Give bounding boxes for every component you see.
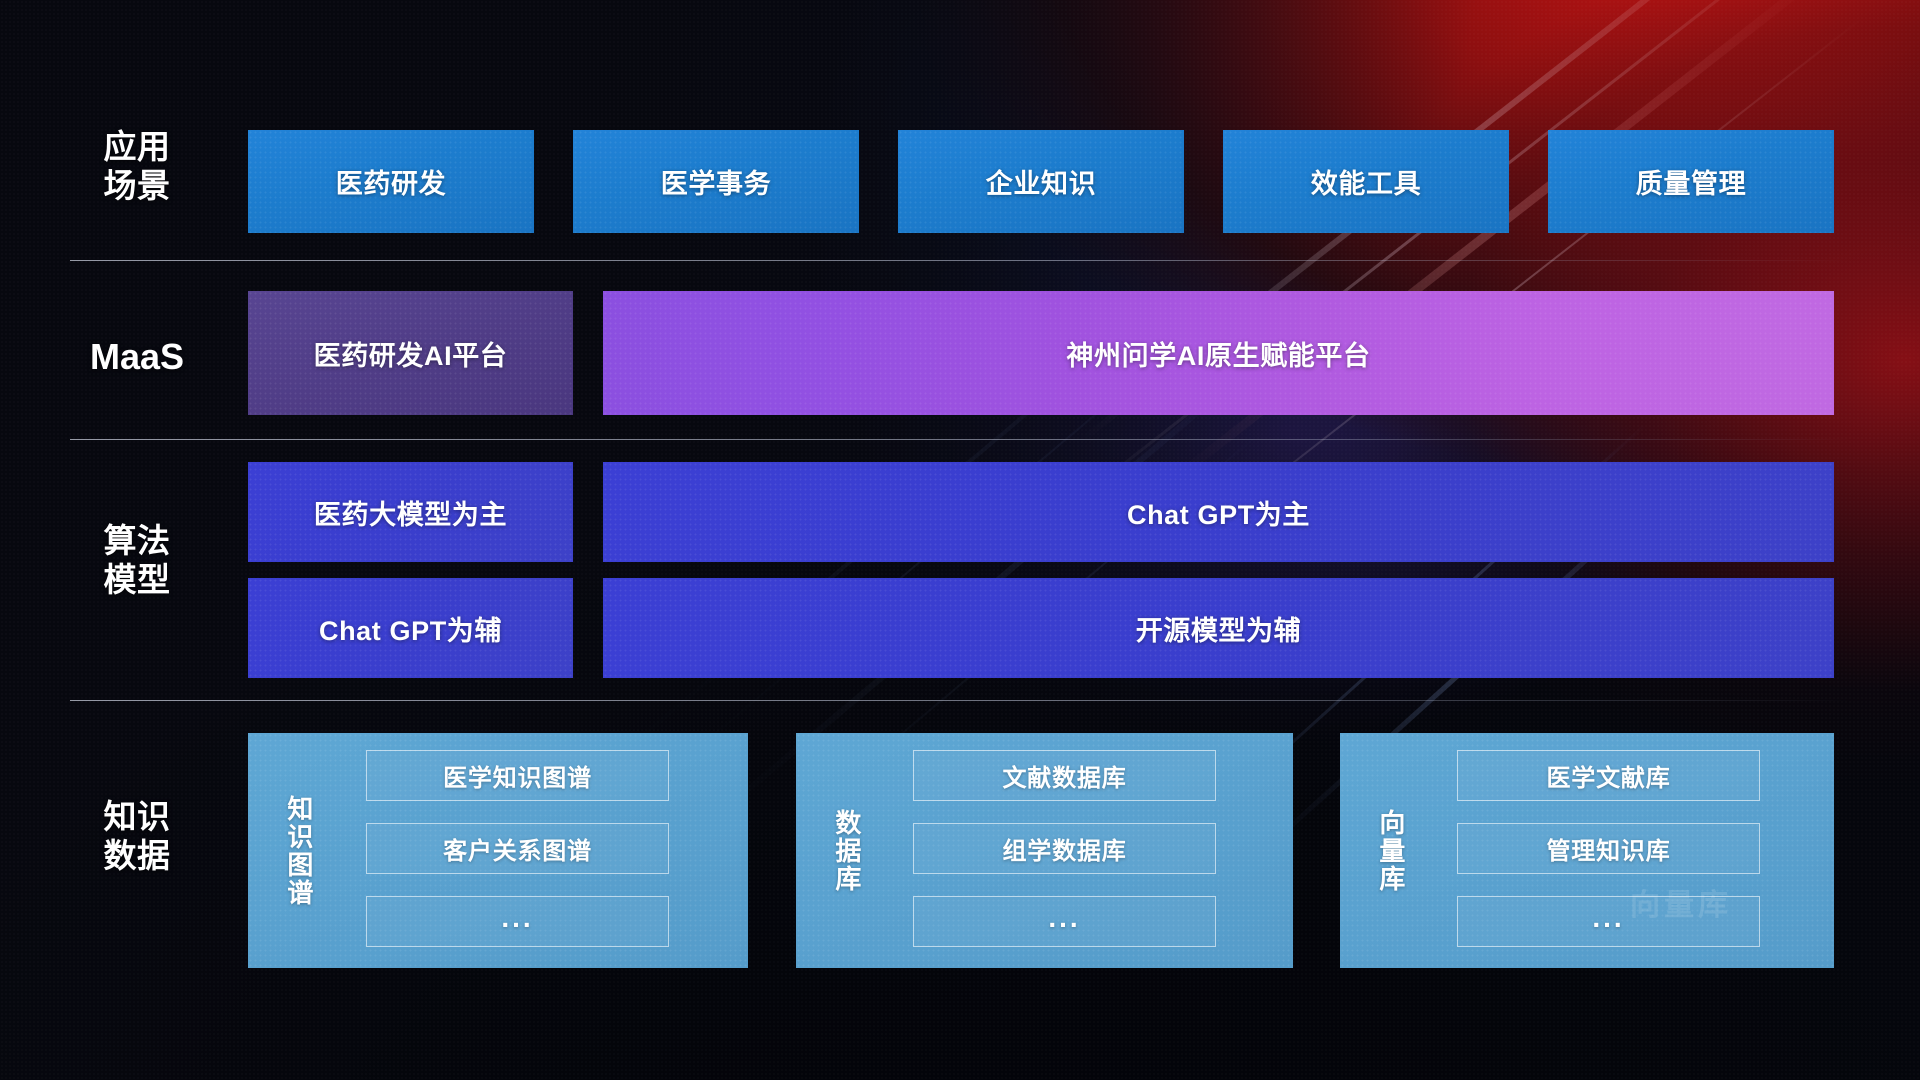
app-box-2[interactable]: 医学事务 [573, 130, 859, 233]
row-label-maas: MaaS [72, 336, 202, 378]
knowledge-group-3-item-2-label: 管理知识库 [1547, 831, 1671, 866]
row-label-application: 应用 场景 [72, 128, 202, 206]
algo-right-box-2-label: 开源模型为辅 [1136, 609, 1302, 648]
knowledge-group-1-item-1[interactable]: 医学知识图谱 [366, 750, 669, 801]
algo-right-box-2[interactable]: 开源模型为辅 [603, 578, 1834, 678]
algo-left-box-2[interactable]: Chat GPT为辅 [248, 578, 573, 678]
knowledge-group-2-item-3-label: ... [1048, 902, 1080, 934]
app-box-3-label: 企业知识 [986, 162, 1096, 201]
row-separator-1 [70, 260, 1850, 261]
row-label-knowledge: 知识 数据 [72, 798, 202, 876]
knowledge-group-1-item-2[interactable]: 客户关系图谱 [366, 823, 669, 874]
maas-main-platform-label: 神州问学AI原生赋能平台 [1066, 334, 1370, 373]
knowledge-group-2-item-2[interactable]: 组学数据库 [913, 823, 1216, 874]
app-box-1[interactable]: 医药研发 [248, 130, 534, 233]
knowledge-group-2-item-1[interactable]: 文献数据库 [913, 750, 1216, 801]
knowledge-group-3-vertical-label: 向量库 [1364, 753, 1416, 948]
knowledge-group-2-item-3[interactable]: ... [913, 896, 1216, 947]
knowledge-group-2-vertical-label: 数据库 [820, 753, 872, 948]
knowledge-group-1-item-2-label: 客户关系图谱 [443, 831, 592, 866]
row-separator-3 [70, 700, 1850, 701]
app-box-4-label: 效能工具 [1311, 162, 1421, 201]
algo-left-box-1-label: 医药大模型为主 [314, 493, 507, 532]
diagram-canvas: 应用 场景 医药研发 医学事务 企业知识 效能工具 质量管理 MaaS 医药研发… [0, 0, 1920, 1080]
app-box-2-label: 医学事务 [661, 162, 771, 201]
knowledge-group-3-item-1[interactable]: 医学文献库 [1457, 750, 1760, 801]
knowledge-group-3-item-1-label: 医学文献库 [1547, 758, 1671, 793]
maas-platform-label: 医药研发AI平台 [314, 334, 508, 373]
knowledge-group-3-item-2[interactable]: 管理知识库 [1457, 823, 1760, 874]
maas-platform-box[interactable]: 医药研发AI平台 [248, 291, 573, 415]
knowledge-group-1-vertical-label: 知识图谱 [272, 753, 324, 948]
algo-right-box-1[interactable]: Chat GPT为主 [603, 462, 1834, 562]
app-box-5-label: 质量管理 [1636, 162, 1746, 201]
app-box-5[interactable]: 质量管理 [1548, 130, 1834, 233]
knowledge-group-1-item-3-label: ... [501, 902, 533, 934]
row-separator-2 [70, 439, 1850, 440]
app-box-1-label: 医药研发 [336, 162, 446, 201]
knowledge-group-2-item-1-label: 文献数据库 [1003, 758, 1127, 793]
row-label-algorithm: 算法 模型 [72, 522, 202, 600]
knowledge-group-3-item-3-label: ... [1592, 902, 1624, 934]
maas-main-platform-box[interactable]: 神州问学AI原生赋能平台 [603, 291, 1834, 415]
algo-left-box-1[interactable]: 医药大模型为主 [248, 462, 573, 562]
knowledge-group-1-item-3[interactable]: ... [366, 896, 669, 947]
algo-right-box-1-label: Chat GPT为主 [1127, 493, 1310, 532]
app-box-4[interactable]: 效能工具 [1223, 130, 1509, 233]
knowledge-group-2-item-2-label: 组学数据库 [1003, 831, 1127, 866]
app-box-3[interactable]: 企业知识 [898, 130, 1184, 233]
knowledge-group-1-item-1-label: 医学知识图谱 [443, 758, 592, 793]
knowledge-group-3-item-3[interactable]: ... [1457, 896, 1760, 947]
algo-left-box-2-label: Chat GPT为辅 [319, 609, 502, 648]
